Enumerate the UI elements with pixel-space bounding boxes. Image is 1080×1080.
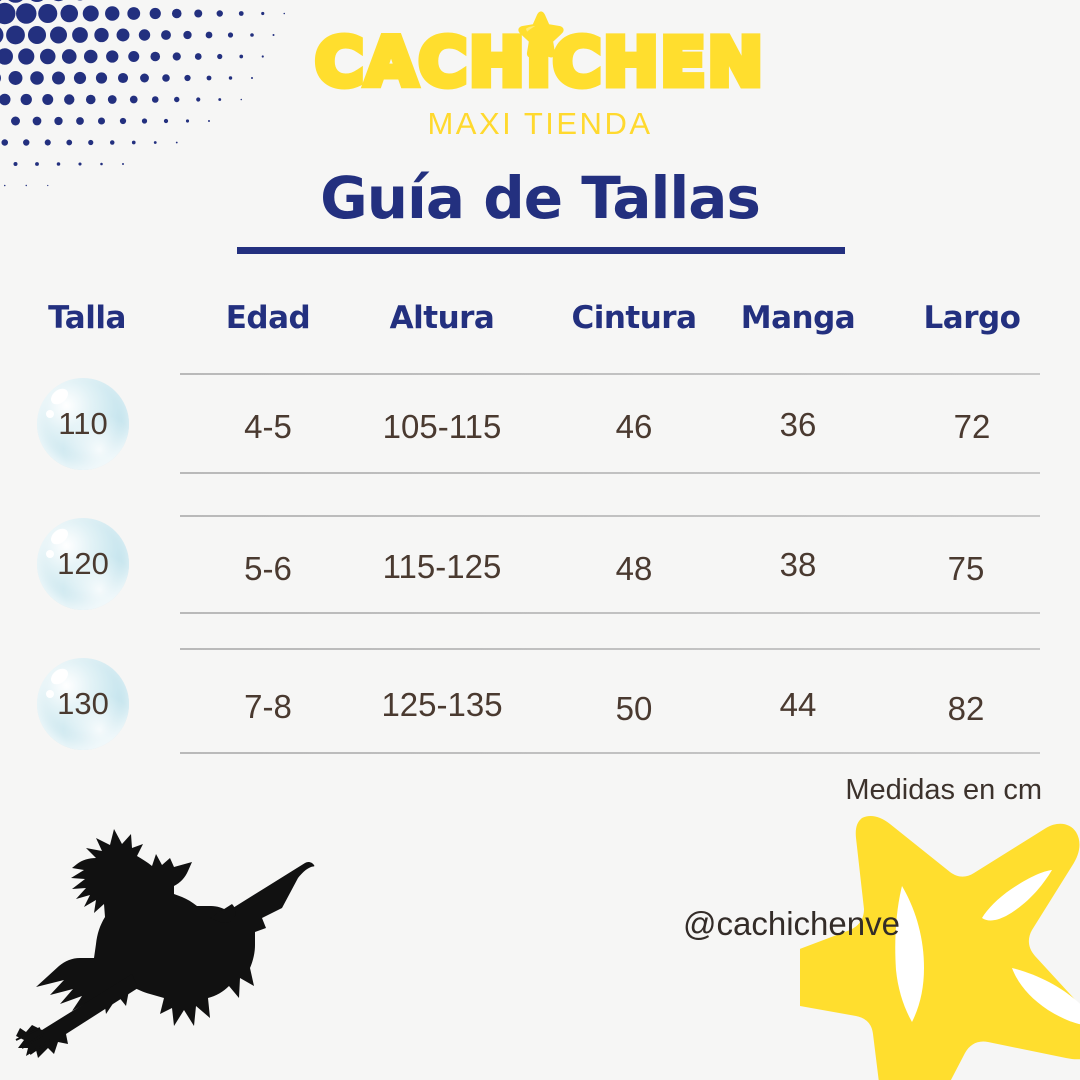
cell-cintura: 46: [558, 408, 710, 446]
cell-manga: 36: [722, 406, 874, 444]
cell-altura: 115-125: [366, 548, 518, 586]
size-guide-poster: CACHICHEN MAXI TIENDA Guía de Tallas Tal…: [0, 0, 1080, 1080]
cell-largo: 72: [896, 408, 1048, 446]
brand-tagline: MAXI TIENDA: [0, 106, 1080, 142]
size-table: Talla Edad Altura Cintura Manga Largo 11…: [0, 300, 1080, 360]
size-bubble: 130: [37, 658, 129, 750]
table-header-row: Talla Edad Altura Cintura Manga Largo: [0, 300, 1080, 360]
star-icon: [800, 812, 1080, 1080]
brand-logo: CACHICHEN MAXI TIENDA: [0, 6, 1080, 142]
size-bubble: 110: [37, 378, 129, 470]
cell-talla: 110: [37, 378, 129, 470]
cell-manga: 38: [722, 546, 874, 584]
social-handle: @cachichenve: [683, 905, 900, 943]
column-header-talla: Talla: [12, 300, 162, 336]
row-divider: [180, 648, 1040, 650]
row-divider: [180, 612, 1040, 614]
star-icon: [512, 8, 570, 66]
cell-largo: 75: [890, 550, 1042, 588]
cell-cintura: 48: [558, 550, 710, 588]
measurement-unit-note: Medidas en cm: [845, 774, 1042, 807]
column-header-altura: Altura: [366, 300, 518, 336]
cell-edad: 4-5: [192, 408, 344, 446]
column-header-cintura: Cintura: [558, 300, 710, 336]
row-divider: [180, 472, 1040, 474]
cell-largo: 82: [890, 690, 1042, 728]
row-divider: [180, 752, 1040, 754]
size-bubble: 120: [37, 518, 129, 610]
column-header-edad: Edad: [192, 300, 344, 336]
cell-talla: 130: [37, 658, 129, 750]
column-header-largo: Largo: [896, 300, 1048, 336]
cell-manga: 44: [722, 686, 874, 724]
cell-edad: 5-6: [192, 550, 344, 588]
cell-cintura: 50: [558, 690, 710, 728]
row-divider: [180, 515, 1040, 517]
cell-altura: 125-135: [366, 686, 518, 724]
cell-edad: 7-8: [192, 688, 344, 726]
column-header-manga: Manga: [722, 300, 874, 336]
title-underline: [237, 247, 845, 254]
cell-altura: 105-115: [366, 408, 518, 446]
cell-talla: 120: [37, 518, 129, 610]
witch-on-broom-icon: [14, 782, 320, 1058]
row-divider: [180, 373, 1040, 375]
page-title: Guía de Tallas: [0, 164, 1080, 232]
